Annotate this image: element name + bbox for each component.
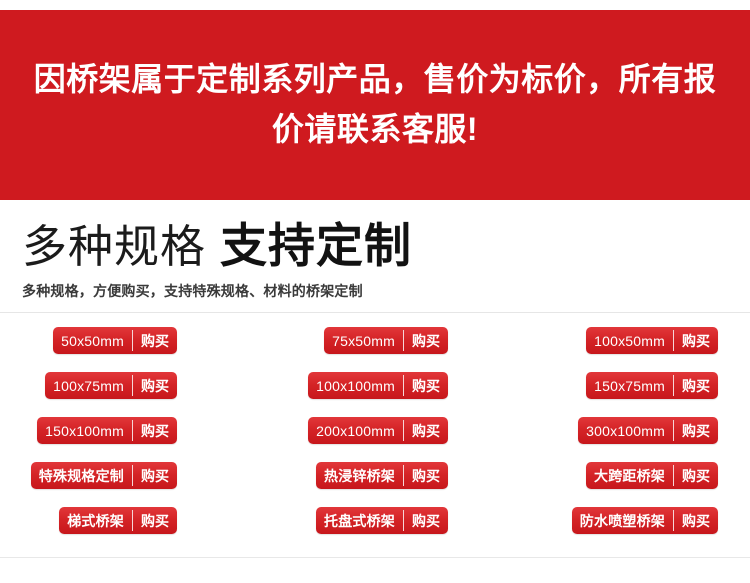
spec-label: 热浸锌桥架 — [316, 462, 403, 489]
buy-button-label[interactable]: 购买 — [133, 372, 177, 399]
spec-pill[interactable]: 300x100mm 购买 — [578, 417, 718, 444]
spec-label: 防水喷塑桥架 — [572, 507, 673, 534]
spec-label: 200x100mm — [308, 417, 403, 444]
buy-button-label[interactable]: 购买 — [404, 372, 448, 399]
buy-button-label[interactable]: 购买 — [133, 327, 177, 354]
spec-label: 300x100mm — [578, 417, 673, 444]
section-title: 多种规格支持定制 — [22, 222, 750, 269]
spec-pill[interactable]: 100x50mm 购买 — [586, 327, 718, 354]
spec-label: 50x50mm — [53, 327, 132, 354]
buy-button-label[interactable]: 购买 — [674, 327, 718, 354]
spec-label: 150x100mm — [37, 417, 132, 444]
buy-button-label[interactable]: 购买 — [404, 462, 448, 489]
buy-button-label[interactable]: 购买 — [133, 507, 177, 534]
spec-pill[interactable]: 75x50mm 购买 — [324, 327, 448, 354]
notice-banner: 因桥架属于定制系列产品，售价为标价，所有报价请联系客服! — [0, 10, 750, 200]
spec-label: 100x75mm — [45, 372, 132, 399]
buy-button-label[interactable]: 购买 — [404, 507, 448, 534]
spec-pill[interactable]: 200x100mm 购买 — [308, 417, 448, 444]
spec-pill[interactable]: 大跨距桥架 购买 — [586, 462, 718, 489]
spec-pill[interactable]: 特殊规格定制 购买 — [31, 462, 177, 489]
spec-pill[interactable]: 100x100mm 购买 — [308, 372, 448, 399]
buy-button-label[interactable]: 购买 — [404, 417, 448, 444]
section-title-bold: 支持定制 — [220, 219, 412, 272]
section-subtitle: 多种规格，方便购买，支持特殊规格、材料的桥架定制 — [22, 281, 750, 301]
spec-pill[interactable]: 50x50mm 购买 — [53, 327, 177, 354]
notice-banner-text: 因桥架属于定制系列产品，售价为标价，所有报价请联系客服! — [30, 55, 720, 154]
spec-pill[interactable]: 防水喷塑桥架 购买 — [572, 507, 718, 534]
spec-column-2: 75x50mm 购买 100x100mm 购买 200x100mm 购买 热浸锌… — [250, 327, 500, 552]
spec-label: 100x100mm — [308, 372, 403, 399]
spec-column-3: 100x50mm 购买 150x75mm 购买 300x100mm 购买 大跨距… — [500, 327, 750, 552]
top-white-strip — [0, 0, 750, 10]
spec-section: 多种规格支持定制 多种规格，方便购买，支持特殊规格、材料的桥架定制 50x50m… — [0, 200, 750, 558]
buy-button-label[interactable]: 购买 — [133, 417, 177, 444]
spec-pill[interactable]: 150x75mm 购买 — [586, 372, 718, 399]
spec-label: 100x50mm — [586, 327, 673, 354]
buy-button-label[interactable]: 购买 — [404, 327, 448, 354]
section-title-light: 多种规格 — [22, 221, 206, 272]
spec-label: 托盘式桥架 — [316, 507, 403, 534]
spec-label: 特殊规格定制 — [31, 462, 132, 489]
spec-pill[interactable]: 托盘式桥架 购买 — [316, 507, 448, 534]
spec-pill[interactable]: 热浸锌桥架 购买 — [316, 462, 448, 489]
spec-pill[interactable]: 100x75mm 购买 — [45, 372, 177, 399]
spec-pill[interactable]: 梯式桥架 购买 — [59, 507, 177, 534]
spec-label: 大跨距桥架 — [586, 462, 673, 489]
spec-column-1: 50x50mm 购买 100x75mm 购买 150x100mm 购买 特殊规格… — [0, 327, 250, 552]
spec-pill[interactable]: 150x100mm 购买 — [37, 417, 177, 444]
buy-button-label[interactable]: 购买 — [674, 462, 718, 489]
spec-label: 梯式桥架 — [59, 507, 132, 534]
buy-button-label[interactable]: 购买 — [674, 417, 718, 444]
spec-label: 75x50mm — [324, 327, 403, 354]
buy-button-label[interactable]: 购买 — [674, 372, 718, 399]
bottom-divider — [0, 557, 750, 558]
section-heading-block: 多种规格支持定制 多种规格，方便购买，支持特殊规格、材料的桥架定制 — [0, 200, 750, 301]
buy-button-label[interactable]: 购买 — [133, 462, 177, 489]
spec-button-grid: 50x50mm 购买 100x75mm 购买 150x100mm 购买 特殊规格… — [0, 313, 750, 552]
spec-label: 150x75mm — [586, 372, 673, 399]
buy-button-label[interactable]: 购买 — [674, 507, 718, 534]
